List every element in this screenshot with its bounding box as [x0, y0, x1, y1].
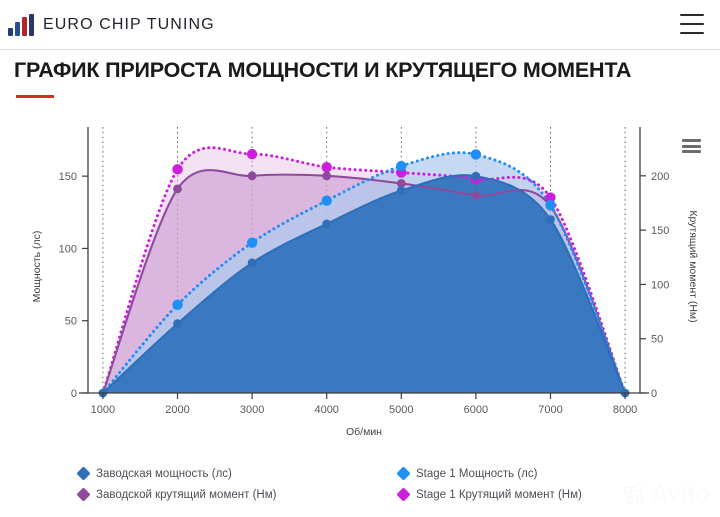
data-point[interactable] — [172, 164, 182, 174]
data-point[interactable] — [397, 186, 406, 195]
axis-tick-label: 100 — [651, 279, 669, 291]
axis-tick-label: 0 — [71, 388, 77, 400]
data-point[interactable] — [471, 172, 480, 181]
data-point[interactable] — [248, 171, 257, 180]
data-point[interactable] — [247, 237, 257, 247]
axis-tick-label: 150 — [651, 225, 669, 237]
axis-tick-label: 7000 — [538, 404, 562, 416]
data-point[interactable] — [322, 196, 332, 206]
title-accent-rule — [16, 95, 54, 98]
data-point[interactable] — [471, 191, 480, 200]
y-axis-right-title: Крутящий момент (Нм) — [687, 210, 699, 322]
legend-marker-icon — [76, 487, 90, 501]
legend-label: Заводская мощность (лс) — [96, 468, 232, 480]
data-point[interactable] — [173, 319, 182, 328]
data-point[interactable] — [322, 171, 331, 180]
axis-tick-label: 150 — [59, 171, 77, 183]
axis-tick-label: 3000 — [240, 404, 264, 416]
data-point[interactable] — [471, 149, 481, 159]
axis-tick-label: 6000 — [464, 404, 488, 416]
data-point[interactable] — [248, 258, 257, 267]
brand-name: EURO CHIP TUNING — [43, 16, 215, 34]
chart-card: 0501001500501001502001000200030004000500… — [0, 110, 720, 517]
legend-item-factory-torque[interactable]: Заводской крутящий момент (Нм) — [78, 484, 276, 505]
y-axis-left-title: Мощность (лс) — [31, 231, 43, 303]
legend-marker-icon — [396, 466, 410, 480]
legend-item-stage1-power[interactable]: Stage 1 Мощность (лс) — [398, 463, 582, 484]
site-header: EURO CHIP TUNING — [0, 0, 720, 50]
data-point[interactable] — [172, 300, 182, 310]
legend-label: Stage 1 Крутящий момент (Нм) — [416, 489, 582, 501]
brand-logo[interactable]: EURO CHIP TUNING — [8, 14, 215, 36]
axis-tick-label: 2000 — [165, 404, 189, 416]
data-point[interactable] — [546, 215, 555, 224]
hamburger-menu-icon[interactable] — [680, 14, 704, 34]
data-point[interactable] — [545, 200, 555, 210]
data-point[interactable] — [247, 149, 257, 159]
legend-marker-icon — [76, 466, 90, 480]
page-title: ГРАФИК ПРИРОСТА МОЩНОСТИ И КРУТЯЩЕГО МОМ… — [14, 58, 631, 83]
axis-tick-label: 200 — [651, 171, 669, 183]
legend-item-factory-power[interactable]: Заводская мощность (лс) — [78, 463, 276, 484]
axis-tick-label: 100 — [59, 243, 77, 255]
power-torque-line-chart: 0501001500501001502001000200030004000500… — [0, 110, 720, 450]
axis-tick-label: 5000 — [389, 404, 413, 416]
x-axis-title: Об/мин — [346, 426, 382, 438]
legend-label: Stage 1 Мощность (лс) — [416, 468, 537, 480]
chart-plot-area: 0501001500501001502001000200030004000500… — [0, 110, 720, 450]
axis-tick-label: 4000 — [314, 404, 338, 416]
axis-tick-label: 50 — [651, 334, 663, 346]
data-point[interactable] — [322, 219, 331, 228]
legend-marker-icon — [396, 487, 410, 501]
data-point[interactable] — [322, 162, 332, 172]
legend-label: Заводской крутящий момент (Нм) — [96, 489, 276, 501]
page-root: EURO CHIP TUNING ГРАФИК ПРИРОСТА МОЩНОСТ… — [0, 0, 720, 517]
axis-tick-label: 1000 — [91, 404, 115, 416]
bar-chart-logo-icon — [8, 14, 34, 36]
data-point[interactable] — [173, 184, 182, 193]
data-point[interactable] — [396, 161, 406, 171]
axis-tick-label: 50 — [65, 316, 77, 328]
axis-tick-label: 8000 — [613, 404, 637, 416]
axis-tick-label: 0 — [651, 388, 657, 400]
chart-legend: Заводская мощность (лс) Заводской крутящ… — [0, 455, 720, 517]
legend-item-stage1-torque[interactable]: Stage 1 Крутящий момент (Нм) — [398, 484, 582, 505]
